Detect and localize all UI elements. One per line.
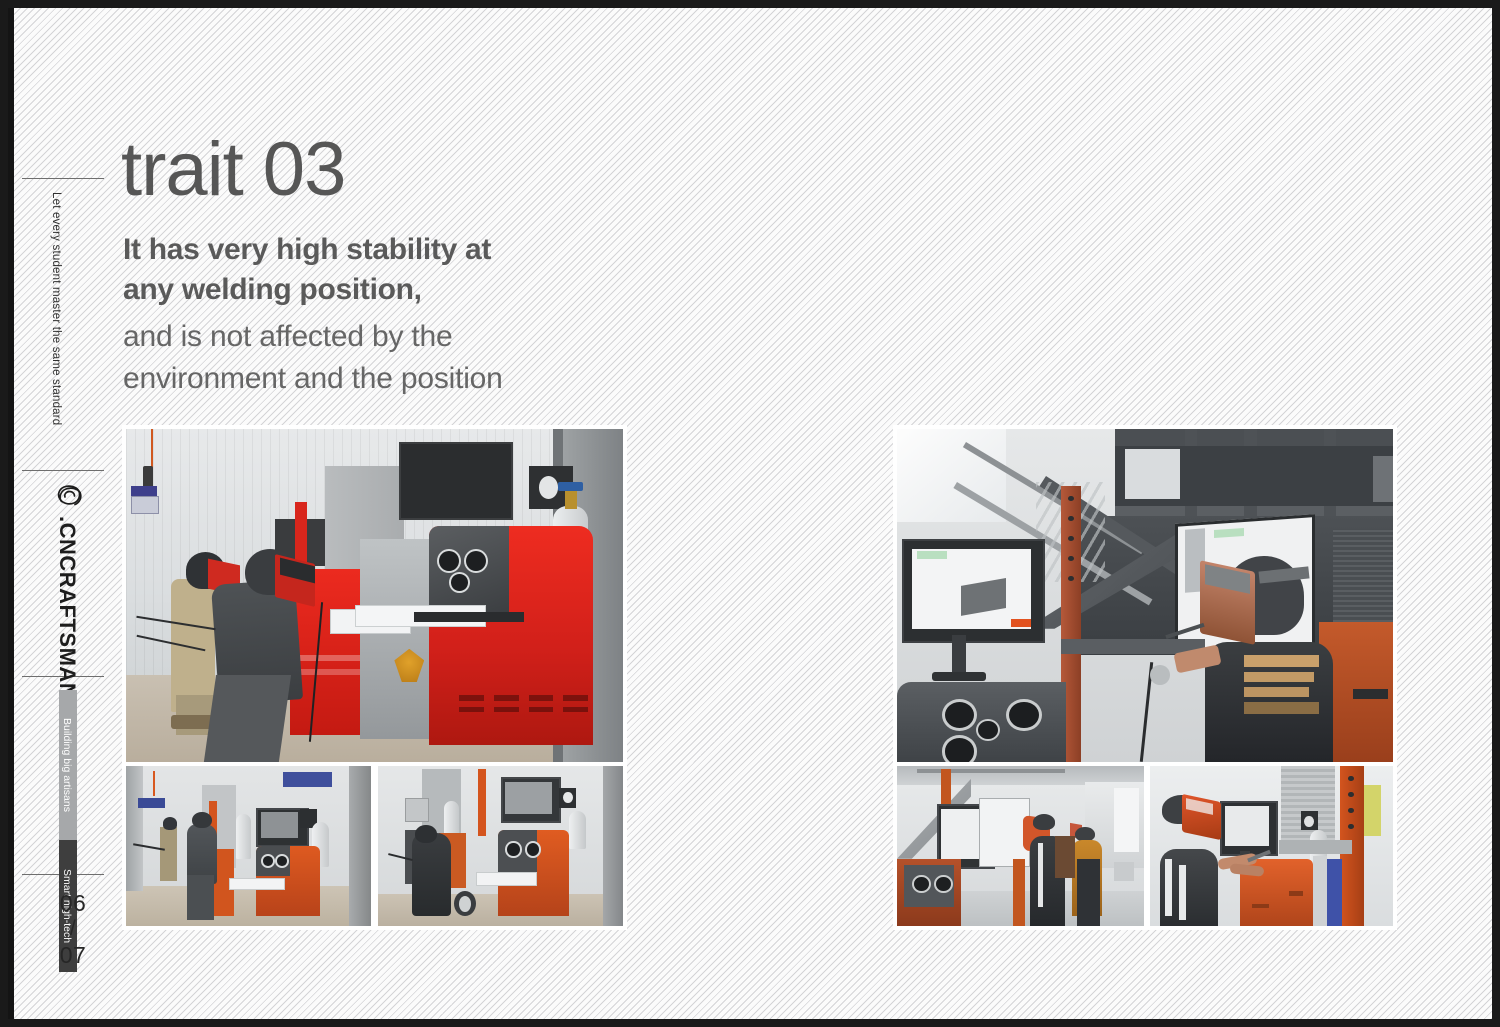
sidebar-tagline: Let every student master the same standa… [50, 192, 62, 425]
photo-right-main: Welder wearing helmet and SCREW WHAT YOU… [897, 429, 1393, 762]
subtitle-bold: It has very high stability at any weldin… [123, 230, 491, 310]
page-number-separator: / [48, 916, 98, 942]
photo-main: Two trainees in welding helmets operatin… [126, 429, 623, 762]
badge-building-big-artisans: Building big artisans [59, 690, 77, 840]
rail-divider-1 [22, 178, 104, 179]
rail-divider-2 [22, 470, 104, 471]
cncraftsman-swirl-logo-icon [54, 482, 84, 508]
subtitle-regular-line-2: environment and the position [123, 358, 503, 400]
subtitle-bold-line-1: It has very high stability at [123, 230, 491, 270]
photo-bottom-right-2: Student in red welding helmet holding a … [1150, 766, 1393, 926]
photo-bottom-left-1: Trainees at orange welding simulator sta… [126, 766, 371, 926]
page-number-current: 06 [60, 890, 87, 916]
page-number: 06 / 07 [48, 890, 98, 968]
page-title: trait 03 [121, 131, 345, 209]
page-left-edge [8, 8, 14, 1019]
photo-bottom-right-1: Students in tracksuits queueing at weldi… [897, 766, 1144, 926]
photo-bottom-left-2: Trainee in dark protective gear working … [378, 766, 623, 926]
brochure-page: Let every student master the same standa… [8, 8, 1492, 1019]
brand-name: .CNCRAFTSMAN [54, 516, 80, 699]
page-number-total: 07 [60, 942, 87, 968]
subtitle-bold-line-2: any welding position, [123, 270, 491, 310]
subtitle-regular: and is not affected by the environment a… [123, 316, 503, 400]
subtitle-regular-line-1: and is not affected by the [123, 316, 503, 358]
